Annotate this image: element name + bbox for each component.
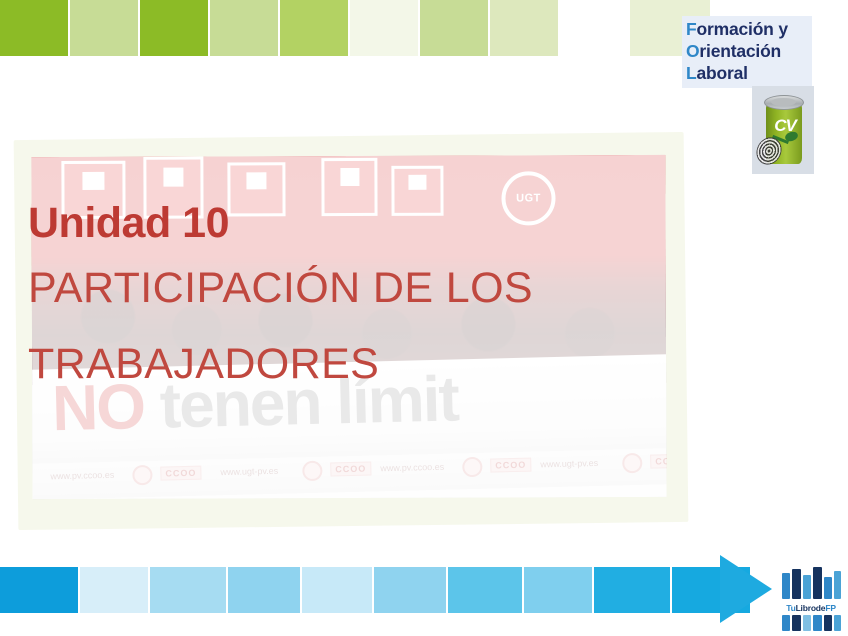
ccoo-badge: CCOO xyxy=(490,458,531,473)
green-square xyxy=(210,0,278,56)
green-square xyxy=(0,0,68,56)
logo-text-libro: Librode xyxy=(796,603,826,613)
arrow-segment xyxy=(448,567,522,613)
fol-capital-f: F xyxy=(686,19,697,39)
green-square xyxy=(350,0,418,56)
tulibrodefp-logo: TuLibrodeFP xyxy=(780,561,842,633)
book-spine-icon xyxy=(813,567,822,599)
arrow-segment xyxy=(594,567,670,613)
union-website-text: www.pv.ccoo.es xyxy=(380,462,444,474)
book-spine-icon xyxy=(834,571,841,599)
arrow-segment xyxy=(374,567,446,613)
arrow-segment xyxy=(80,567,148,613)
book-spine-icon xyxy=(803,575,811,599)
logo-text-tu: Tu xyxy=(786,603,795,613)
title-line-3: TRABAJADORES xyxy=(28,326,668,402)
fol-capital-l: L xyxy=(686,63,697,83)
ugt-small-emblem-icon xyxy=(462,457,482,477)
book-spine-icon xyxy=(813,615,822,631)
fol-logo-line-3: Laboral xyxy=(686,62,812,84)
green-square xyxy=(420,0,488,56)
union-website-text: www.pv.ccoo.es xyxy=(50,470,114,482)
logo-text-fp: FP xyxy=(825,603,835,613)
fol-logo-line-1: Formación y xyxy=(686,18,812,40)
arrow-segment xyxy=(0,567,78,613)
fol-line-1-text: ormación y xyxy=(697,19,788,39)
unit-heading: Unidad 10 xyxy=(28,196,668,250)
ugt-small-emblem-icon xyxy=(622,453,642,473)
ccoo-badge: CCOO xyxy=(160,466,201,481)
book-spine-icon xyxy=(824,577,832,599)
book-spine-icon xyxy=(834,615,841,631)
arrow-segment xyxy=(150,567,226,613)
union-website-text: www.ugt-pv.es xyxy=(540,458,598,469)
green-square xyxy=(490,0,558,56)
fol-line-2-text: rientación xyxy=(699,41,781,61)
slide-title-block: Unidad 10 PARTICIPACIÓN DE LOS TRABAJADO… xyxy=(28,196,668,402)
book-spine-icon xyxy=(803,615,811,631)
ccoo-badge: CCOO xyxy=(330,461,371,476)
arrow-head-icon xyxy=(720,555,772,623)
green-square xyxy=(280,0,348,56)
arrow-segment xyxy=(302,567,372,613)
ugt-small-emblem-icon xyxy=(132,465,152,485)
fol-logo: Formación y Orientación Laboral xyxy=(682,16,812,88)
arrow-segment xyxy=(228,567,300,613)
book-spine-icon xyxy=(824,615,832,631)
can-cv-label: CV xyxy=(767,116,803,136)
fol-logo-line-2: Orientación xyxy=(686,40,812,62)
union-website-text: www.ugt-pv.es xyxy=(220,466,278,477)
ugt-small-emblem-icon xyxy=(302,461,322,481)
green-square xyxy=(70,0,138,56)
fol-line-3-text: aboral xyxy=(697,63,748,83)
arrow-segment xyxy=(524,567,592,613)
green-square xyxy=(140,0,208,56)
cv-can-image: CV xyxy=(752,86,814,174)
presentation-slide: Formación y Orientación Laboral CV UGT xyxy=(0,0,848,636)
ccoo-badge: CCOO xyxy=(650,454,666,469)
book-spine-icon xyxy=(782,573,790,599)
bottom-arrow-bar xyxy=(0,561,848,616)
book-spine-icon xyxy=(792,569,801,599)
book-spine-icon xyxy=(782,615,790,631)
book-spine-icon xyxy=(792,615,801,631)
title-line-2: PARTICIPACIÓN DE LOS xyxy=(28,250,668,326)
can-lid-inner xyxy=(771,98,796,106)
fol-capital-o: O xyxy=(686,41,699,61)
tulibrodefp-logo-text: TuLibrodeFP xyxy=(780,603,842,613)
